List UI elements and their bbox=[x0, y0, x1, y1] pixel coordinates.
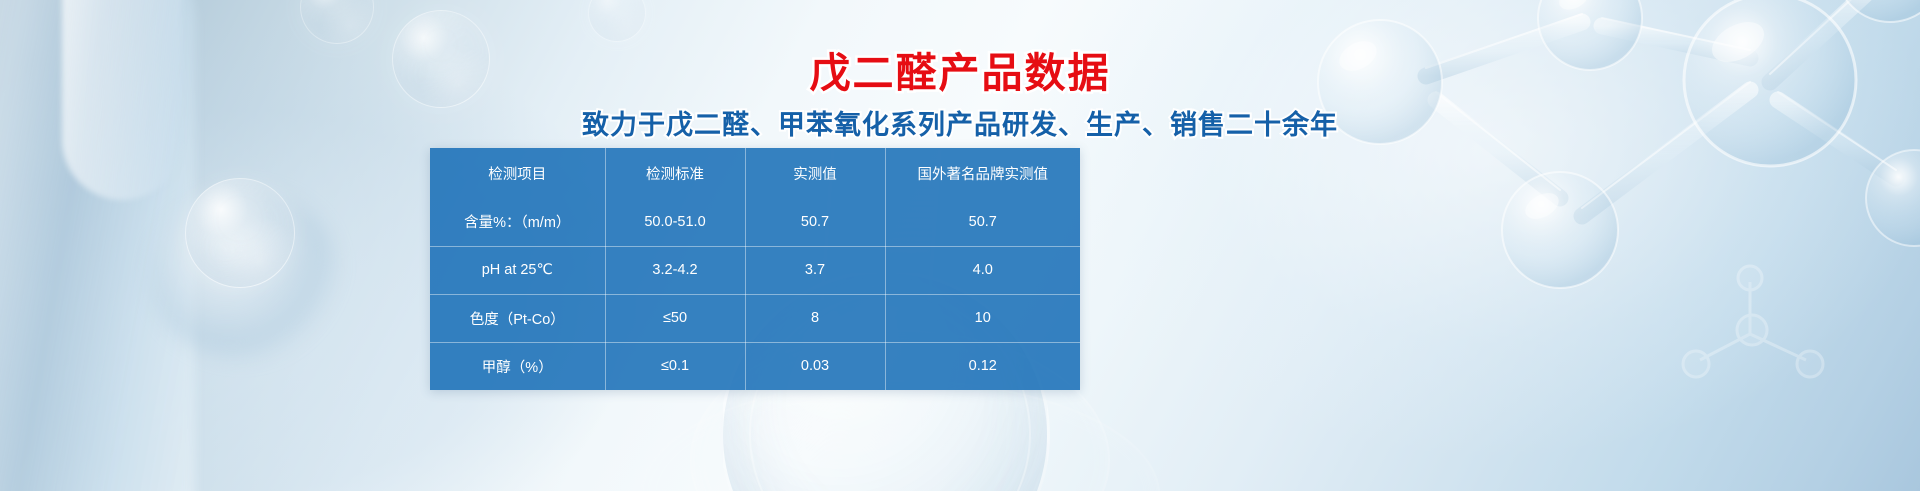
cell-test-standard: ≤50 bbox=[605, 294, 745, 342]
cell-measured: 50.7 bbox=[745, 198, 885, 246]
cell-measured: 3.7 bbox=[745, 246, 885, 294]
cell-foreign-brand: 50.7 bbox=[885, 198, 1080, 246]
cell-test-standard: ≤0.1 bbox=[605, 342, 745, 390]
table-row: 含量%：（m/m） 50.0-51.0 50.7 50.7 bbox=[430, 198, 1080, 246]
page-subtitle: 致力于戊二醛、甲苯氧化系列产品研发、生产、销售二十余年 bbox=[0, 108, 1920, 143]
banner-heading-block: 戊二醛产品数据 致力于戊二醛、甲苯氧化系列产品研发、生产、销售二十余年 bbox=[0, 48, 1920, 143]
bubble-ring-decoration bbox=[640, 380, 1160, 491]
column-header-test-item: 检测项目 bbox=[430, 148, 605, 198]
column-header-measured: 实测值 bbox=[745, 148, 885, 198]
product-spec-table: 检测项目 检测标准 实测值 国外著名品牌实测值 含量%：（m/m） 50.0-5… bbox=[430, 148, 1080, 390]
table-row: pH at 25℃ 3.2-4.2 3.7 4.0 bbox=[430, 246, 1080, 294]
table-header-row: 检测项目 检测标准 实测值 国外著名品牌实测值 bbox=[430, 148, 1080, 198]
cell-measured: 0.03 bbox=[745, 342, 885, 390]
blur-blob-left bbox=[150, 190, 340, 360]
cell-test-standard: 50.0-51.0 bbox=[605, 198, 745, 246]
cell-test-item: 甲醇（%） bbox=[430, 342, 605, 390]
bubble-decoration bbox=[300, 0, 374, 44]
cell-foreign-brand: 4.0 bbox=[885, 246, 1080, 294]
cell-test-item: 色度（Pt-Co） bbox=[430, 294, 605, 342]
cell-measured: 8 bbox=[745, 294, 885, 342]
cell-test-item: 含量%：（m/m） bbox=[430, 198, 605, 246]
cell-test-standard: 3.2-4.2 bbox=[605, 246, 745, 294]
column-header-test-standard: 检测标准 bbox=[605, 148, 745, 198]
page-title: 戊二醛产品数据 bbox=[0, 48, 1920, 99]
cell-foreign-brand: 10 bbox=[885, 294, 1080, 342]
cell-foreign-brand: 0.12 bbox=[885, 342, 1080, 390]
cell-test-item: pH at 25℃ bbox=[430, 246, 605, 294]
table-body: 含量%：（m/m） 50.0-51.0 50.7 50.7 pH at 25℃ … bbox=[430, 198, 1080, 390]
table-header: 检测项目 检测标准 实测值 国外著名品牌实测值 bbox=[430, 148, 1080, 198]
bubble-decoration bbox=[185, 178, 295, 288]
product-data-banner: 戊二醛产品数据 致力于戊二醛、甲苯氧化系列产品研发、生产、销售二十余年 检测项目… bbox=[0, 0, 1920, 491]
table-row: 甲醇（%） ≤0.1 0.03 0.12 bbox=[430, 342, 1080, 390]
column-header-foreign-brand: 国外著名品牌实测值 bbox=[885, 148, 1080, 198]
bubble-decoration bbox=[588, 0, 646, 42]
table-row: 色度（Pt-Co） ≤50 8 10 bbox=[430, 294, 1080, 342]
product-spec-table-container: 检测项目 检测标准 实测值 国外著名品牌实测值 含量%：（m/m） 50.0-5… bbox=[430, 148, 1080, 390]
